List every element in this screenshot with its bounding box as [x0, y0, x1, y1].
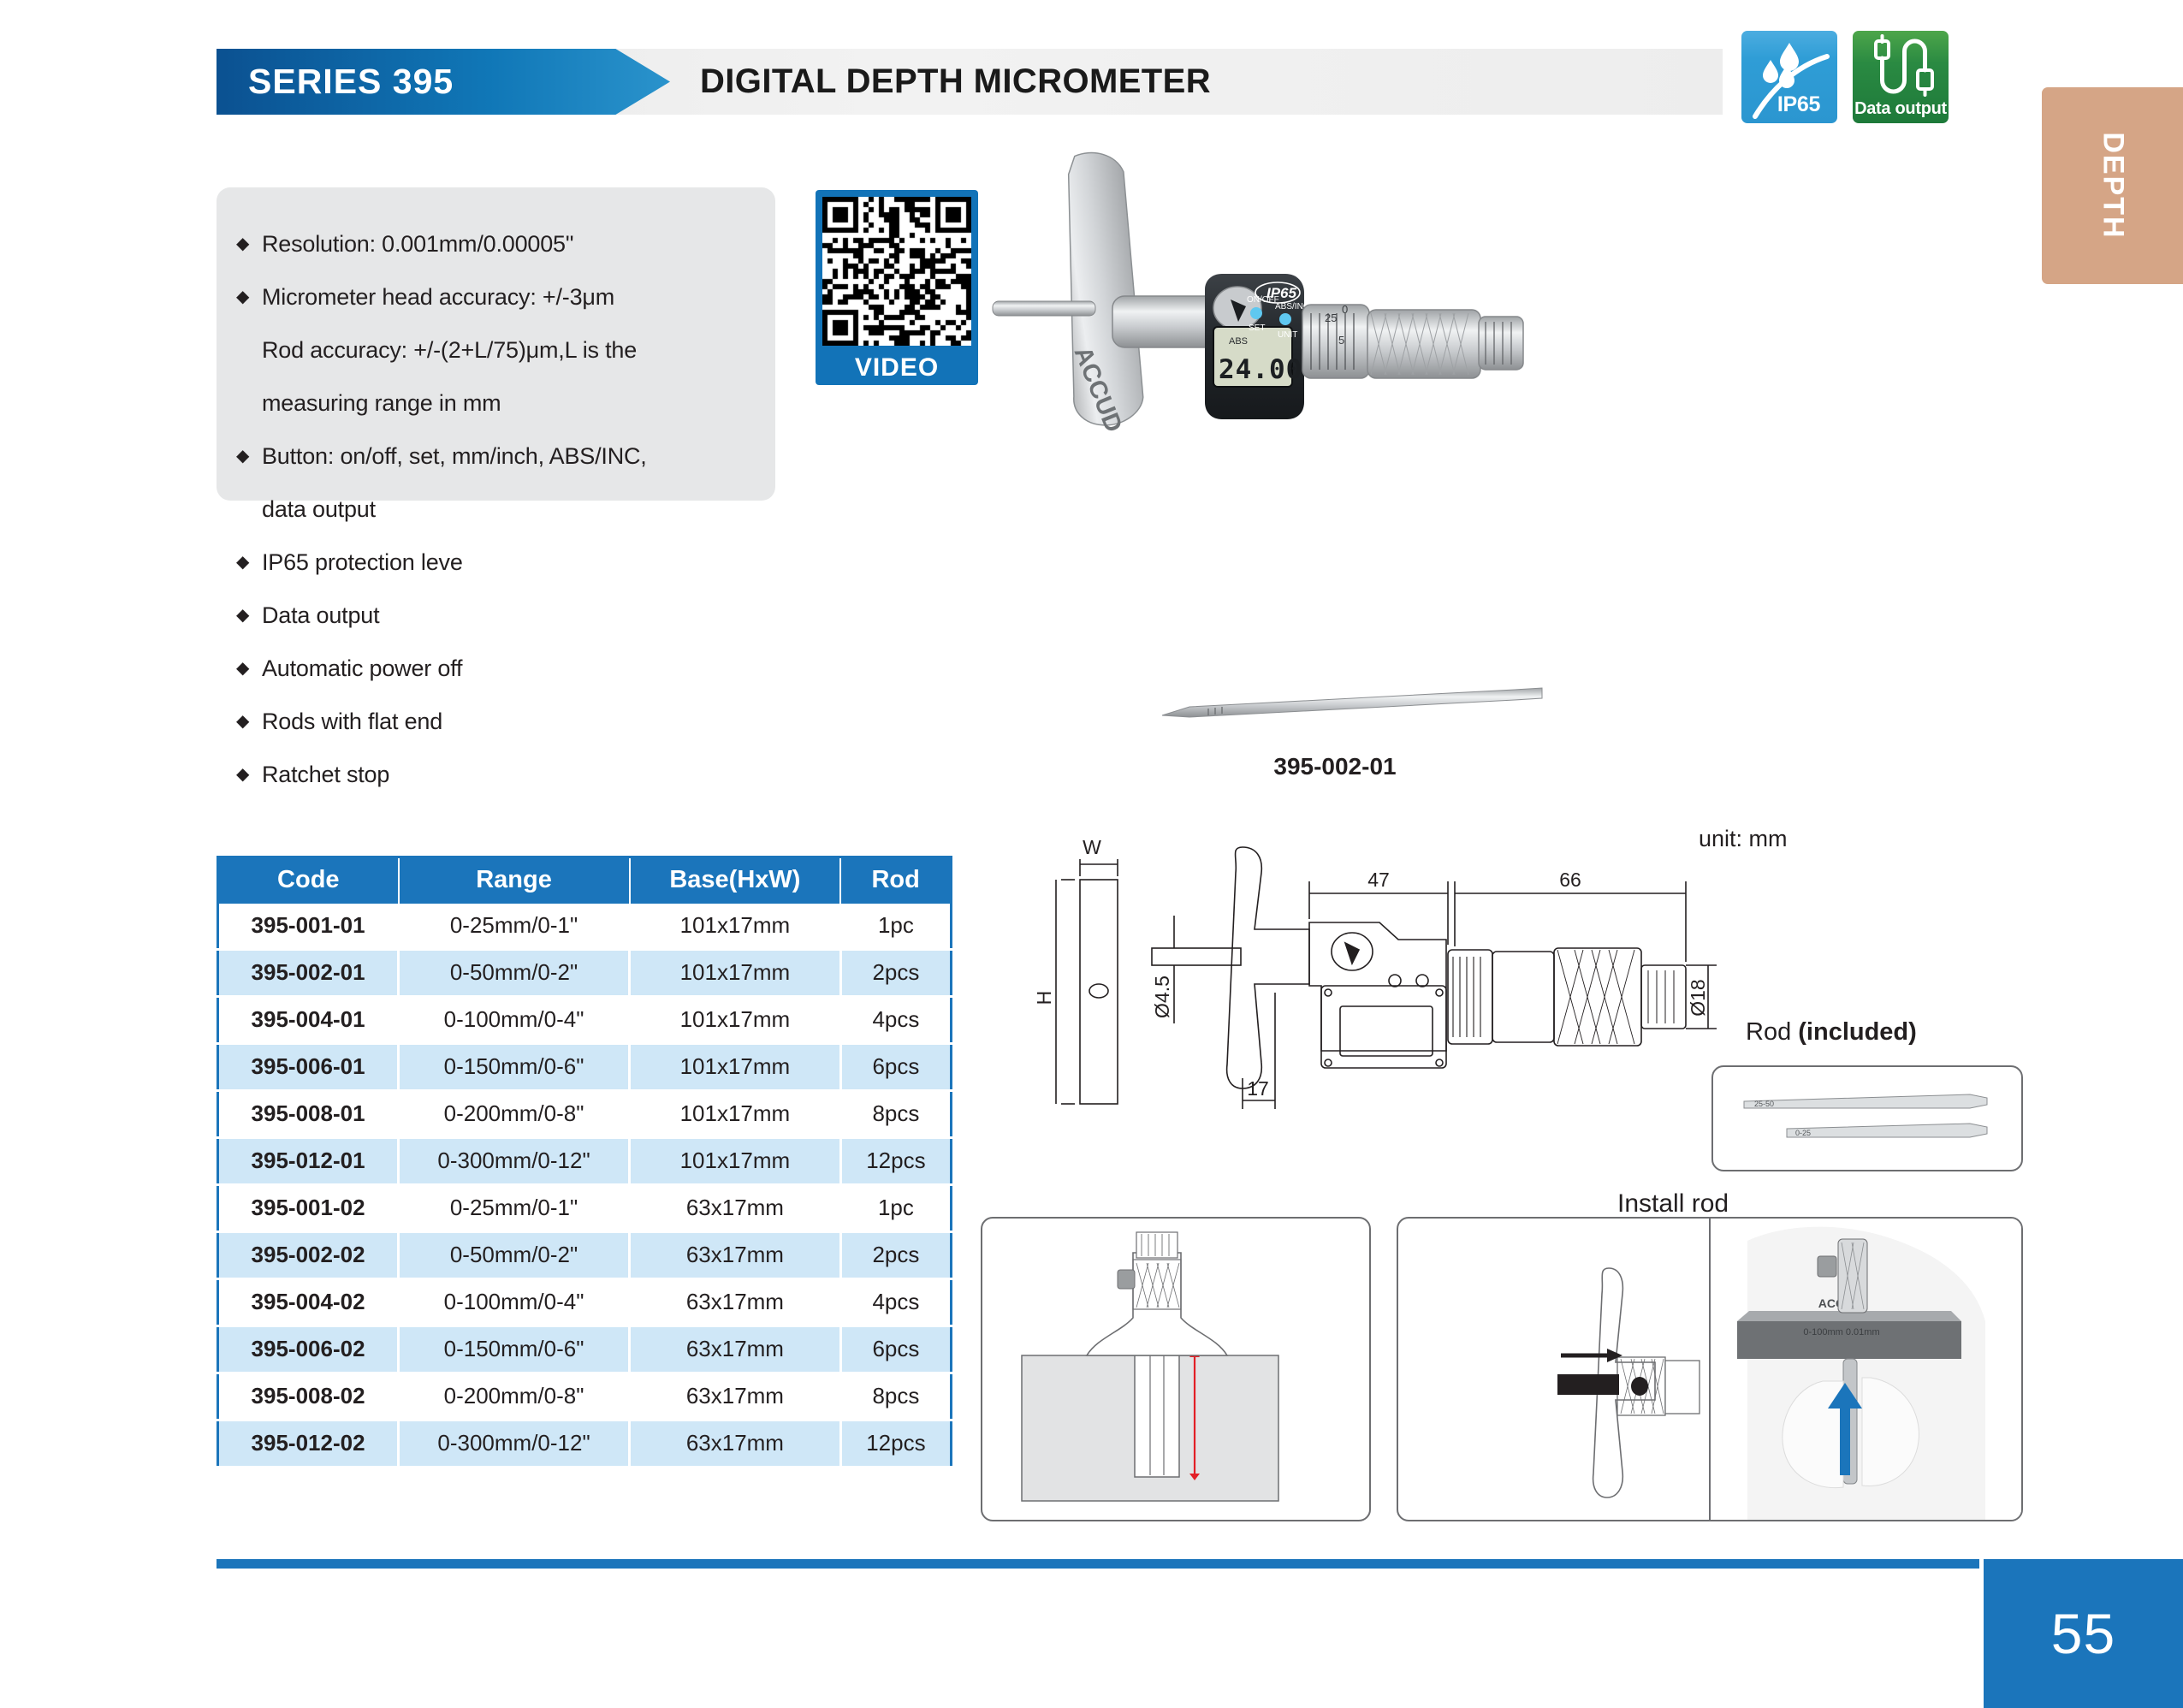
- table-cell-base: 63x17mm: [630, 1185, 841, 1232]
- table-row: 395-001-010-25mm/0-1"101x17mm1pc: [218, 904, 952, 950]
- table-row: 395-012-020-300mm/0-12"63x17mm12pcs: [218, 1420, 952, 1468]
- dim-thimble-dia: Ø18: [1687, 979, 1709, 1016]
- feature-item: ◆ Ratchet stop: [233, 749, 780, 801]
- feature-item-continuation: ◆ Rod accuracy: +/-(2+L/75)μm,L is the: [233, 324, 780, 377]
- series-chevron: SERIES 395: [217, 49, 670, 115]
- table-row: 395-006-010-150mm/0-6"101x17mm6pcs: [218, 1044, 952, 1091]
- dim-body: 47: [1367, 869, 1390, 891]
- usage-illustration-panel: [981, 1217, 1371, 1521]
- bullet-spacer: ◆: [233, 377, 262, 430]
- feature-text: data output: [262, 483, 376, 536]
- table-cell-base: 101x17mm: [630, 1044, 841, 1091]
- water-drops-icon: [1741, 31, 1837, 123]
- table-cell-range: 0-150mm/0-6": [399, 1044, 630, 1091]
- table-cell-rod: 6pcs: [840, 1044, 951, 1091]
- diamond-bullet-icon: ◆: [233, 271, 262, 323]
- table-row: 395-004-020-100mm/0-4"63x17mm4pcs: [218, 1279, 952, 1326]
- column-header-code: Code: [218, 857, 399, 904]
- feature-text: Resolution: 0.001mm/0.00005": [262, 218, 573, 270]
- table-cell-rod: 1pc: [840, 1185, 951, 1232]
- diamond-bullet-icon: ◆: [233, 696, 262, 748]
- table-cell-rod: 8pcs: [840, 1091, 951, 1138]
- badge-group: IP65 Data output: [1741, 31, 1949, 123]
- dim-thimble: 66: [1559, 869, 1581, 891]
- tool-range-marking: 0-100mm 0.01mm: [1803, 1327, 1879, 1337]
- column-header-range: Range: [399, 857, 630, 904]
- rod-included-box: 25-50 0-25: [1711, 1065, 2023, 1171]
- install-rod-label: Install rod: [1617, 1189, 1729, 1219]
- dim-w: W: [1083, 836, 1101, 858]
- feature-text: Ratchet stop: [262, 749, 389, 801]
- feature-text: measuring range in mm: [262, 377, 501, 430]
- table-cell-code: 395-004-02: [218, 1279, 399, 1326]
- table-row: 395-008-010-200mm/0-8"101x17mm8pcs: [218, 1091, 952, 1138]
- svg-text:0: 0: [1342, 303, 1348, 316]
- table-cell-rod: 4pcs: [840, 1279, 951, 1326]
- table-body: 395-001-010-25mm/0-1"101x17mm1pc395-002-…: [218, 904, 952, 1468]
- table-cell-rod: 2pcs: [840, 950, 951, 997]
- feature-item-continuation: ◆ data output: [233, 483, 780, 536]
- table-row: 395-002-010-50mm/0-2"101x17mm2pcs: [218, 950, 952, 997]
- table-cell-rod: 4pcs: [840, 997, 951, 1044]
- table-cell-range: 0-150mm/0-6": [399, 1326, 630, 1373]
- table-cell-rod: 12pcs: [840, 1420, 951, 1468]
- table-cell-base: 101x17mm: [630, 1138, 841, 1185]
- column-header-base: Base(HxW): [630, 857, 841, 904]
- features-list: ◆ Resolution: 0.001mm/0.00005" ◆ Microme…: [233, 218, 780, 802]
- table-cell-base: 63x17mm: [630, 1373, 841, 1420]
- feature-text: Micrometer head accuracy: +/-3μm: [262, 271, 614, 323]
- feature-text: Automatic power off: [262, 643, 462, 695]
- table-cell-base: 63x17mm: [630, 1232, 841, 1279]
- page-number-block: 55: [1984, 1559, 2183, 1708]
- table-row: 395-002-020-50mm/0-2"63x17mm2pcs: [218, 1232, 952, 1279]
- video-qr-block[interactable]: VIDEO: [816, 190, 978, 385]
- unit-note: unit: mm: [1699, 826, 1788, 852]
- display-mode: ABS: [1229, 336, 1248, 347]
- table-cell-base: 101x17mm: [630, 997, 841, 1044]
- feature-item-continuation: ◆ measuring range in mm: [233, 377, 780, 430]
- diamond-bullet-icon: ◆: [233, 430, 262, 483]
- table-row: 395-004-010-100mm/0-4"101x17mm4pcs: [218, 997, 952, 1044]
- table-cell-base: 101x17mm: [630, 904, 841, 950]
- table-cell-range: 0-200mm/0-8": [399, 1091, 630, 1138]
- table-cell-code: 395-001-01: [218, 904, 399, 950]
- rod-included-bold: (included): [1798, 1018, 1917, 1046]
- feature-item: ◆ Automatic power off: [233, 643, 780, 695]
- depth-section-tab-label: DEPTH: [2096, 132, 2129, 239]
- feature-item: ◆ Resolution: 0.001mm/0.00005": [233, 218, 780, 270]
- dim-h: H: [1033, 991, 1055, 1005]
- feature-item: ◆ Micrometer head accuracy: +/-3μm: [233, 271, 780, 323]
- diamond-bullet-icon: ◆: [233, 590, 262, 642]
- table-cell-range: 0-100mm/0-4": [399, 1279, 630, 1326]
- feature-text: Button: on/off, set, mm/inch, ABS/INC,: [262, 430, 647, 483]
- table-cell-range: 0-200mm/0-8": [399, 1373, 630, 1420]
- diamond-bullet-icon: ◆: [233, 643, 262, 695]
- feature-text: IP65 protection leve: [262, 537, 463, 589]
- table-cell-base: 63x17mm: [630, 1279, 841, 1326]
- bullet-spacer: ◆: [233, 324, 262, 377]
- table-cell-base: 63x17mm: [630, 1326, 841, 1373]
- depth-section-tab[interactable]: DEPTH: [2042, 87, 2183, 284]
- svg-text:UNIT: UNIT: [1278, 330, 1297, 340]
- page-title: DIGITAL DEPTH MICROMETER: [700, 49, 1211, 115]
- table-cell-code: 395-012-02: [218, 1420, 399, 1468]
- table-cell-code: 395-004-01: [218, 997, 399, 1044]
- table-cell-code: 395-012-01: [218, 1138, 399, 1185]
- usb-cable-icon: [1853, 31, 1949, 123]
- specifications-table: Code Range Base(HxW) Rod 395-001-010-25m…: [217, 856, 952, 1468]
- table-cell-code: 395-001-02: [218, 1185, 399, 1232]
- table-row: 395-008-020-200mm/0-8"63x17mm8pcs: [218, 1373, 952, 1420]
- table-header-row: Code Range Base(HxW) Rod: [218, 857, 952, 904]
- table-cell-code: 395-002-01: [218, 950, 399, 997]
- table-cell-range: 0-25mm/0-1": [399, 904, 630, 950]
- bullet-spacer: ◆: [233, 483, 262, 536]
- install-rod-panel: ACCUD 0-100mm 0.01mm: [1397, 1217, 2023, 1521]
- rod-included-label: Rod (included): [1746, 1018, 1917, 1047]
- column-header-rod: Rod: [840, 857, 951, 904]
- panel-divider: [1709, 1219, 1711, 1520]
- table-row: 395-001-020-25mm/0-1"63x17mm1pc: [218, 1185, 952, 1232]
- table-cell-rod: 2pcs: [840, 1232, 951, 1279]
- data-output-badge: Data output: [1853, 31, 1949, 123]
- technical-drawing: W H Ø4.5 17 47 66 Ø18: [1027, 821, 1771, 1130]
- table-cell-rod: 6pcs: [840, 1326, 951, 1373]
- diamond-bullet-icon: ◆: [233, 537, 262, 589]
- dim-base-thickness: 17: [1247, 1077, 1269, 1100]
- feature-text: Data output: [262, 590, 379, 642]
- qr-code-icon: [822, 197, 971, 346]
- video-label: VIDEO: [816, 353, 978, 383]
- table-cell-rod: 8pcs: [840, 1373, 951, 1420]
- feature-text: Rods with flat end: [262, 696, 442, 748]
- depth-measure-illustration: [982, 1219, 1369, 1520]
- svg-text:SET: SET: [1249, 323, 1265, 333]
- svg-text:5: 5: [1338, 334, 1344, 347]
- product-photo: ACCUD IP65 ABS 24.000 ON/OFF SET ABS/INC…: [984, 145, 1686, 505]
- table-cell-code: 395-006-02: [218, 1326, 399, 1373]
- table-cell-range: 0-300mm/0-12": [399, 1138, 630, 1185]
- footer-rule: [217, 1559, 1979, 1569]
- table-cell-code: 395-008-01: [218, 1091, 399, 1138]
- table-cell-range: 0-25mm/0-1": [399, 1185, 630, 1232]
- rod-label-25-50: 25-50: [1754, 1100, 1774, 1108]
- series-label: SERIES 395: [217, 62, 454, 102]
- table-cell-range: 0-100mm/0-4": [399, 997, 630, 1044]
- page-number: 55: [2051, 1601, 2115, 1666]
- svg-text:25: 25: [1325, 311, 1337, 324]
- feature-item: ◆ Rods with flat end: [233, 696, 780, 748]
- table-cell-code: 395-002-02: [218, 1232, 399, 1279]
- ip65-badge: IP65: [1741, 31, 1837, 123]
- rod-included-prefix: Rod: [1746, 1018, 1798, 1046]
- table-cell-rod: 1pc: [840, 904, 951, 950]
- table-cell-base: 63x17mm: [630, 1420, 841, 1468]
- dim-rod-dia: Ø4.5: [1151, 976, 1173, 1018]
- rod-label-0-25: 0-25: [1795, 1129, 1811, 1137]
- feature-text: Rod accuracy: +/-(2+L/75)μm,L is the: [262, 324, 637, 377]
- rod-pair-illustration: 25-50 0-25: [1713, 1067, 2021, 1170]
- diamond-bullet-icon: ◆: [233, 749, 262, 801]
- table-cell-base: 101x17mm: [630, 1091, 841, 1138]
- loose-rod-photo: [1155, 676, 1549, 736]
- table-row: 395-012-010-300mm/0-12"101x17mm12pcs: [218, 1138, 952, 1185]
- table-cell-range: 0-50mm/0-2": [399, 950, 630, 997]
- feature-item: ◆ Data output: [233, 590, 780, 642]
- table-cell-base: 101x17mm: [630, 950, 841, 997]
- feature-item: ◆ IP65 protection leve: [233, 537, 780, 589]
- table-cell-code: 395-008-02: [218, 1373, 399, 1420]
- table-cell-rod: 12pcs: [840, 1138, 951, 1185]
- feature-item: ◆ Button: on/off, set, mm/inch, ABS/INC,: [233, 430, 780, 483]
- table-cell-range: 0-300mm/0-12": [399, 1420, 630, 1468]
- product-photo-caption: 395-002-01: [1138, 753, 1532, 780]
- diamond-bullet-icon: ◆: [233, 218, 262, 270]
- table-cell-code: 395-006-01: [218, 1044, 399, 1091]
- table-cell-range: 0-50mm/0-2": [399, 1232, 630, 1279]
- table-row: 395-006-020-150mm/0-6"63x17mm6pcs: [218, 1326, 952, 1373]
